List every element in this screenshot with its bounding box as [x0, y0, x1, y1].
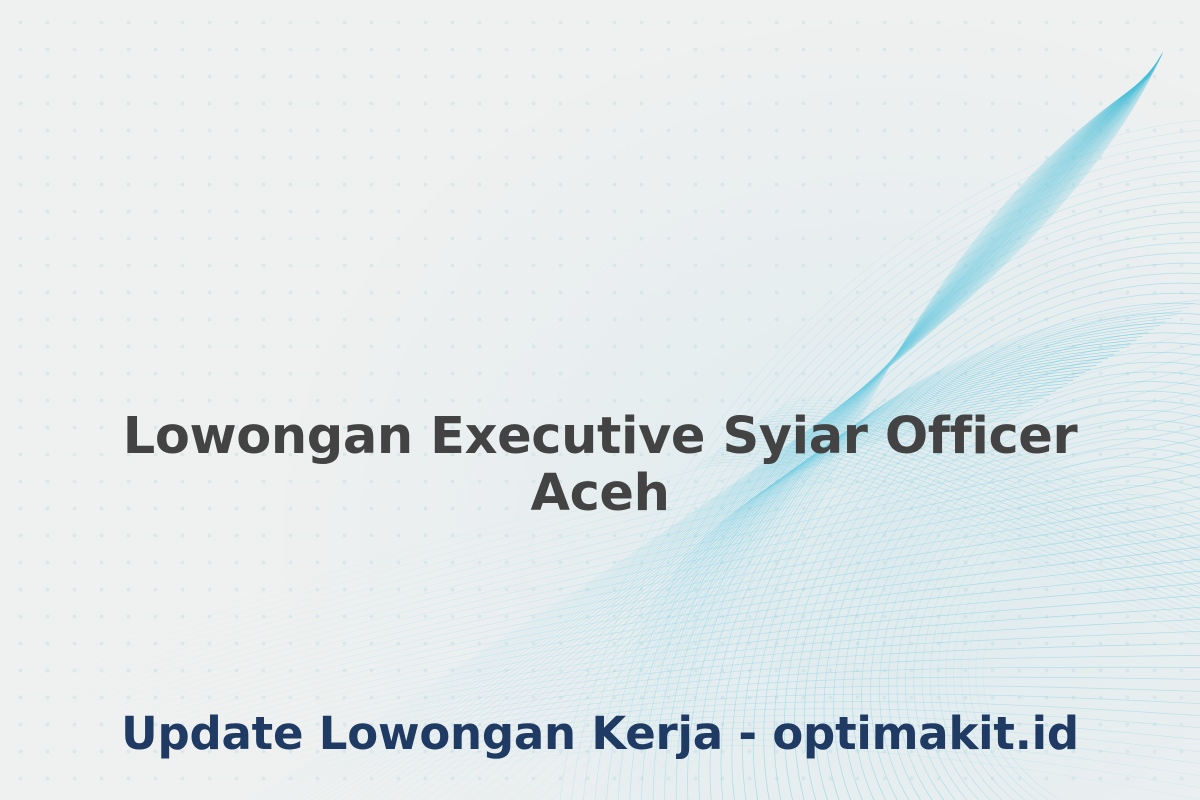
social-card: Lowongan Executive Syiar Officer Aceh Up… [0, 0, 1200, 800]
card-content: Lowongan Executive Syiar Officer Aceh Up… [0, 0, 1200, 800]
page-title: Lowongan Executive Syiar Officer Aceh [0, 408, 1200, 522]
page-subtitle: Update Lowongan Kerja - optimakit.id [0, 709, 1200, 759]
